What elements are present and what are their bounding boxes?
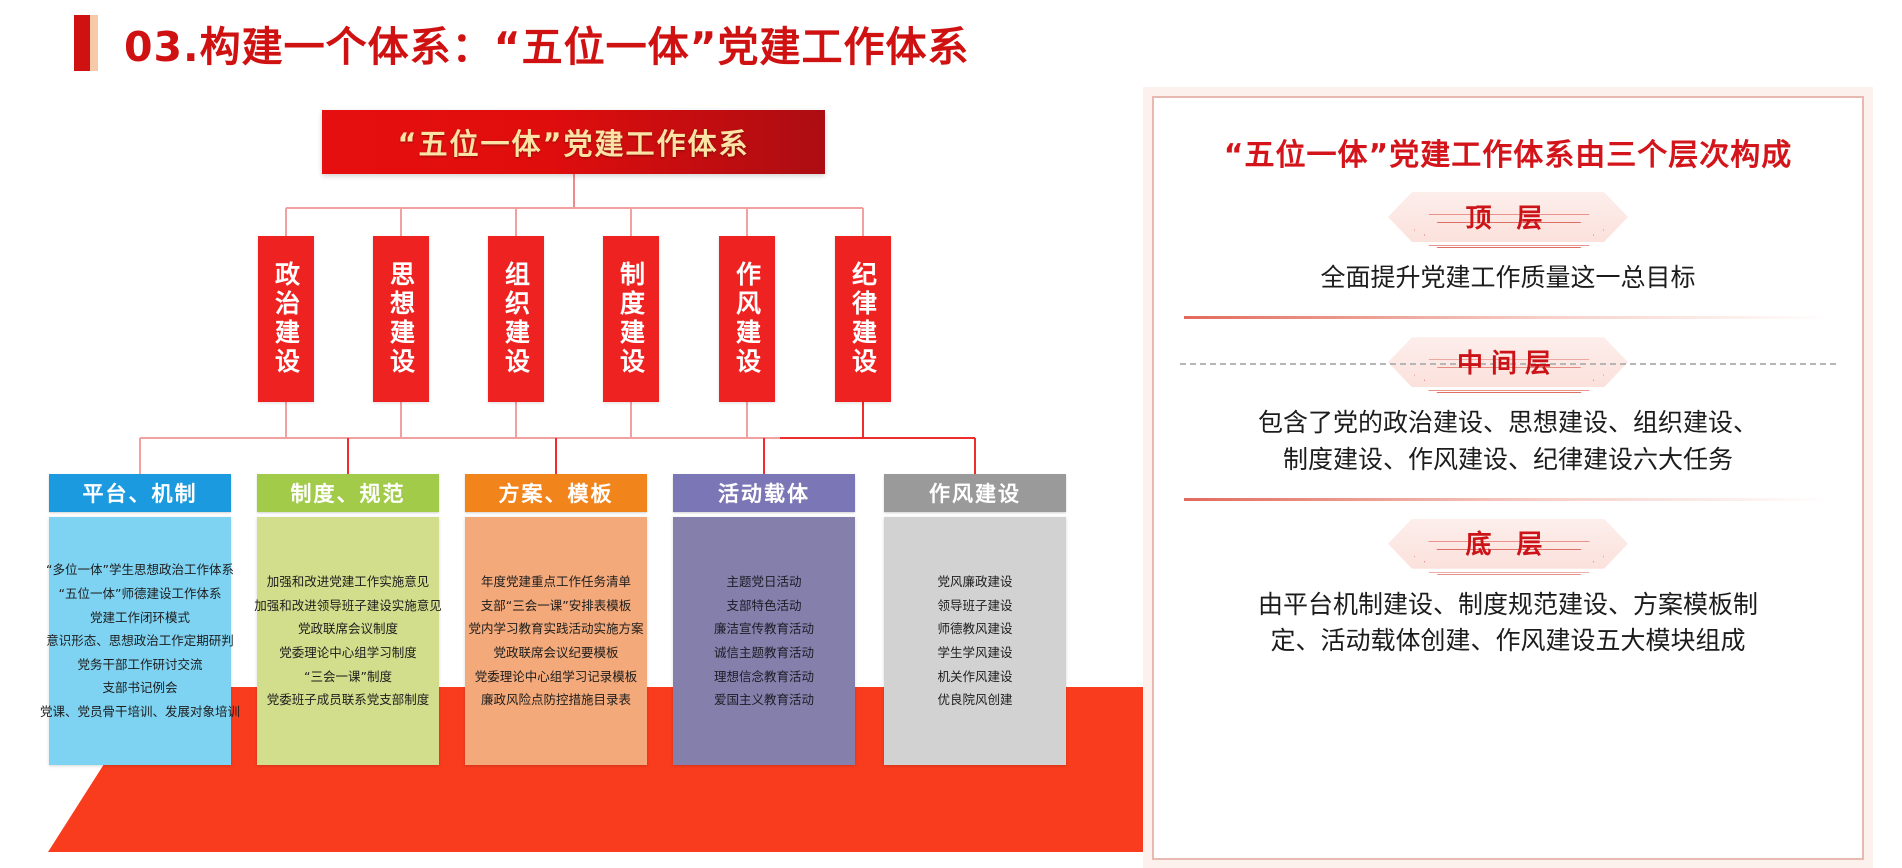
list-item: 加强和改进党建工作实施意见 [266,570,431,594]
list-item: 机关作风建设 [936,665,1013,689]
column-platform-mechanism[interactable]: 平台、机制 “多位一体”学生思想政治工作体系 “五位一体”师德建设工作体系 党建… [49,474,231,765]
column-body: 主题党日活动 支部特色活动 廉洁宣传教育活动 诚信主题教育活动 理想信念教育活动… [673,517,855,765]
list-item: 党务干部工作研讨交流 [76,653,203,677]
pillar-discipline[interactable]: 纪律建设 [835,236,891,402]
tier-description: 包含了党的政治建设、思想建设、组织建设、制度建设、作风建设、纪律建设六大任务 [1180,405,1836,478]
column-body: “多位一体”学生思想政治工作体系 “五位一体”师德建设工作体系 党建工作闭环模式… [49,517,231,765]
list-item: “多位一体”学生思想政治工作体系 [45,558,235,582]
list-item: 廉政风险点防控措施目录表 [480,688,632,712]
title-accent-bar [74,15,90,71]
section-divider [1184,498,1832,501]
pillar-label: 政治建设 [274,261,299,377]
list-item: 党政联席会议纪要模板 [492,641,619,665]
column-plan-template[interactable]: 方案、模板 年度党建重点工作任务清单 支部“三会一课”安排表模板 党内学习教育实… [465,474,647,765]
list-item: 党委班子成员联系党支部制度 [266,688,431,712]
column-body: 年度党建重点工作任务清单 支部“三会一课”安排表模板 党内学习教育实践活动实施方… [465,517,647,765]
column-body: 党风廉政建设 领导班子建设 师德教风建设 学生学风建设 机关作风建设 优良院风创… [884,517,1066,765]
list-item: 支部书记例会 [101,676,178,700]
tier-description: 全面提升党建工作质量这一总目标 [1180,260,1836,296]
pillar-work-style[interactable]: 作风建设 [719,236,775,402]
column-header: 活动载体 [673,474,855,512]
tier-name: 中间层 [1388,341,1628,381]
crown-label: “五位一体”党建工作体系 [397,121,749,163]
list-item: 党建工作闭环模式 [89,606,191,630]
column-header: 作风建设 [884,474,1066,512]
list-item: “五位一体”师德建设工作体系 [58,582,223,606]
pillar-political[interactable]: 政治建设 [258,236,314,402]
page-title: 03.构建一个体系：“五位一体”党建工作体系 [124,13,970,73]
tier-top: 顶 层 全面提升党建工作质量这一总目标 [1180,192,1836,296]
tier-middle: 中间层 包含了党的政治建设、思想建设、组织建设、制度建设、作风建设、纪律建设六大… [1180,337,1836,478]
tier-name: 顶 层 [1388,196,1628,236]
tier-badge: 底 层 [1388,519,1628,581]
list-item: 支部特色活动 [725,594,802,618]
list-item: 诚信主题教育活动 [713,641,815,665]
list-item: 优良院风创建 [936,688,1013,712]
pillar-label: 组织建设 [504,261,529,377]
list-item: 支部“三会一课”安排表模板 [480,594,632,618]
list-item: 党委理论中心组学习制度 [278,641,418,665]
list-item: 加强和改进领导班子建设实施意见 [253,594,443,618]
list-item: 学生学风建设 [936,641,1013,665]
column-header: 制度、规范 [257,474,439,512]
list-item: 党委理论中心组学习记录模板 [474,665,639,689]
section-divider [1184,316,1832,319]
list-item: 理想信念教育活动 [713,665,815,689]
pillar-label: 纪律建设 [851,261,876,377]
org-diagram: “五位一体”党建工作体系 政治建设 思想建设 组织建设 制度建设 作风建设 纪律… [0,86,1140,868]
explanation-panel: “五位一体”党建工作体系由三个层次构成 顶 层 全面提升党建工作质量这一总目标 … [1152,96,1864,860]
list-item: 党内学习教育实践活动实施方案 [468,617,645,641]
list-item: 党政联席会议制度 [297,617,399,641]
tier-badge: 中间层 [1388,337,1628,399]
list-item: 师德教风建设 [936,617,1013,641]
list-item: 爱国主义教育活动 [713,688,815,712]
pillar-organizational[interactable]: 组织建设 [488,236,544,402]
page-header: 03.构建一个体系：“五位一体”党建工作体系 [0,0,1902,86]
list-item: “三会一课”制度 [303,665,393,689]
pillar-institutional[interactable]: 制度建设 [603,236,659,402]
list-item: 党风廉政建设 [936,570,1013,594]
column-header: 方案、模板 [465,474,647,512]
list-item: 主题党日活动 [725,570,802,594]
list-item: 意识形态、思想政治工作定期研判 [45,629,235,653]
column-header: 平台、机制 [49,474,231,512]
list-item: 党课、党员骨干培训、发展对象培训 [39,700,241,724]
list-item: 廉洁宣传教育活动 [713,617,815,641]
column-work-style[interactable]: 作风建设 党风廉政建设 领导班子建设 师德教风建设 学生学风建设 机关作风建设 … [884,474,1066,765]
tier-bottom: 底 层 由平台机制建设、制度规范建设、方案模板制定、活动载体创建、作风建设五大模… [1180,519,1836,660]
pillar-label: 思想建设 [389,261,414,377]
pillar-ideological[interactable]: 思想建设 [373,236,429,402]
pillar-label: 制度建设 [619,261,644,377]
column-body: 加强和改进党建工作实施意见 加强和改进领导班子建设实施意见 党政联席会议制度 党… [257,517,439,765]
tier-description: 由平台机制建设、制度规范建设、方案模板制定、活动载体创建、作风建设五大模块组成 [1180,587,1836,660]
pillar-label: 作风建设 [735,261,760,377]
list-item: 领导班子建设 [936,594,1013,618]
panel-title: “五位一体”党建工作体系由三个层次构成 [1180,130,1836,174]
tier-name: 底 层 [1388,523,1628,563]
column-system-norms[interactable]: 制度、规范 加强和改进党建工作实施意见 加强和改进领导班子建设实施意见 党政联席… [257,474,439,765]
list-item: 年度党建重点工作任务清单 [480,570,632,594]
system-crown-banner: “五位一体”党建工作体系 [322,110,825,174]
column-activity-carrier[interactable]: 活动载体 主题党日活动 支部特色活动 廉洁宣传教育活动 诚信主题教育活动 理想信… [673,474,855,765]
tier-badge: 顶 层 [1388,192,1628,254]
